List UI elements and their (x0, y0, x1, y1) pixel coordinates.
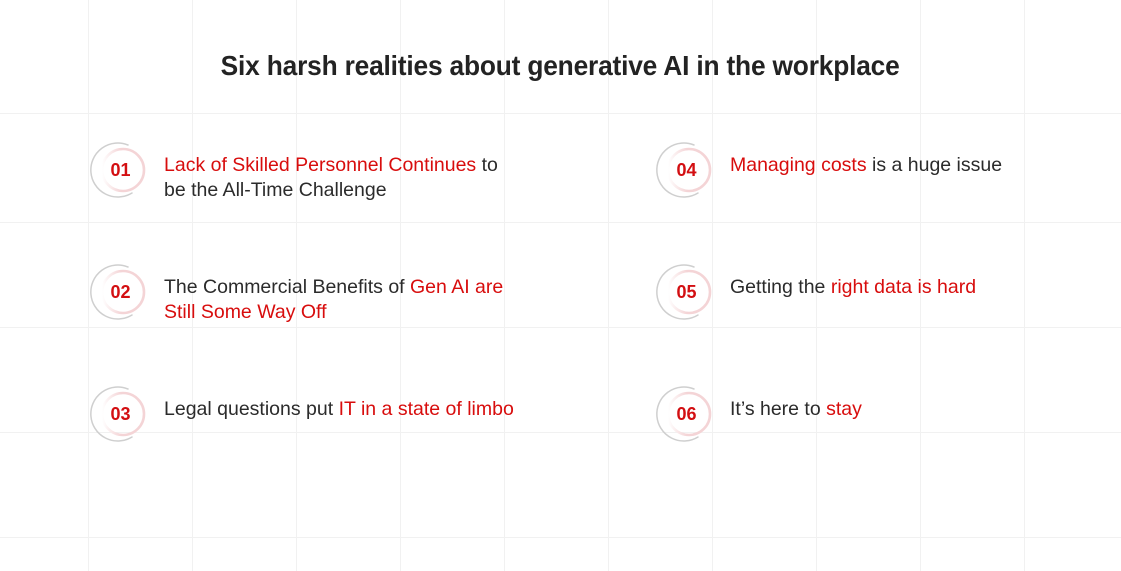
reality-item: 06It’s here to stay (654, 389, 1088, 511)
reality-item: 05Getting the right data is hard (654, 267, 1088, 389)
item-text: Managing costs is a huge issue (730, 145, 1002, 178)
item-number-label: 04 (654, 139, 716, 201)
item-number-badge: 01 (88, 139, 150, 201)
item-number-badge: 06 (654, 383, 716, 445)
realities-list: 01Lack of Skilled Personnel Continues to… (88, 145, 1088, 511)
item-text: The Commercial Benefits of Gen AI are St… (164, 267, 524, 325)
item-text: Legal questions put IT in a state of lim… (164, 389, 514, 422)
reality-item: 02The Commercial Benefits of Gen AI are … (88, 267, 654, 389)
item-text: It’s here to stay (730, 389, 862, 422)
reality-item: 04Managing costs is a huge issue (654, 145, 1088, 267)
item-number-label: 03 (88, 383, 150, 445)
page-title: Six harsh realities about generative AI … (221, 50, 900, 82)
item-number-badge: 03 (88, 383, 150, 445)
item-text: Getting the right data is hard (730, 267, 976, 300)
item-text-accent: Managing costs (730, 154, 867, 176)
item-number-label: 02 (88, 261, 150, 323)
item-text-plain: is a huge issue (867, 154, 1003, 176)
item-number-badge: 02 (88, 261, 150, 323)
grid-line-horizontal (0, 537, 1121, 538)
item-text-accent: stay (826, 398, 862, 420)
page-title-container: Six harsh realities about generative AI … (0, 50, 1121, 82)
item-text-accent: Lack of Skilled Personnel Continues (164, 154, 476, 176)
item-number-label: 05 (654, 261, 716, 323)
grid-line-horizontal (0, 113, 1121, 114)
item-text-plain: Legal questions put (164, 398, 339, 420)
item-number-badge: 04 (654, 139, 716, 201)
reality-item: 03Legal questions put IT in a state of l… (88, 389, 654, 511)
reality-item: 01Lack of Skilled Personnel Continues to… (88, 145, 654, 267)
item-number-label: 01 (88, 139, 150, 201)
item-text-plain: It’s here to (730, 398, 826, 420)
item-text-accent: right data is hard (831, 276, 976, 298)
item-number-label: 06 (654, 383, 716, 445)
item-text-plain: Getting the (730, 276, 831, 298)
item-text-accent: IT in a state of limbo (339, 398, 514, 420)
infographic-page: Six harsh realities about generative AI … (0, 0, 1121, 571)
item-number-badge: 05 (654, 261, 716, 323)
item-text: Lack of Skilled Personnel Continues to b… (164, 145, 524, 203)
item-text-plain: The Commercial Benefits of (164, 276, 410, 298)
